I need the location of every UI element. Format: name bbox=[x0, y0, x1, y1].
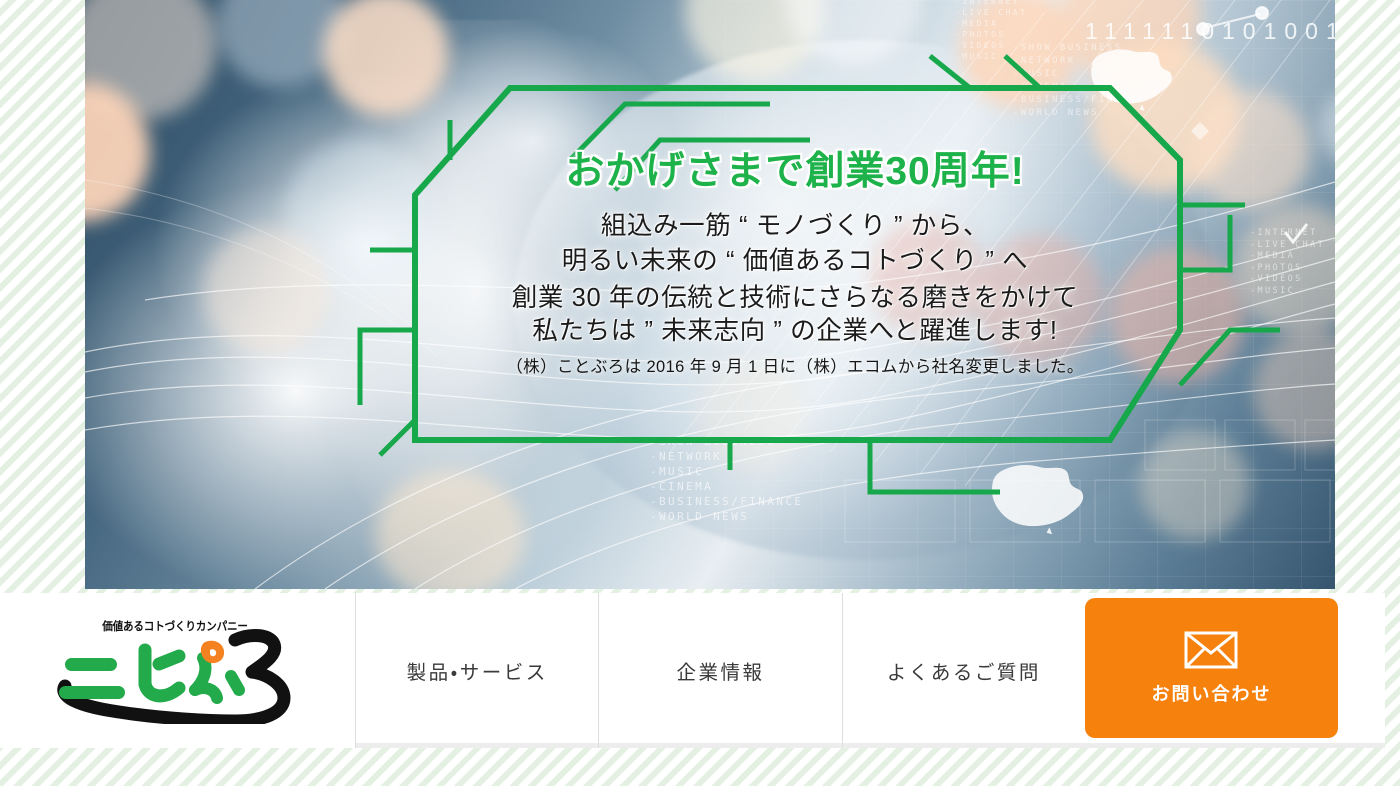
contact-cell: お問い合わせ bbox=[1085, 593, 1385, 748]
nav-item-company[interactable]: 企業情報 bbox=[598, 593, 841, 748]
contact-button-label: お問い合わせ bbox=[1151, 680, 1271, 706]
nav-item-company-label: 企業情報 bbox=[676, 656, 764, 685]
hero-headline: おかげさまで創業30周年! bbox=[170, 140, 1335, 196]
site-logo[interactable]: 価値あるコトづくりカンパニー bbox=[0, 593, 355, 748]
contact-button[interactable]: お問い合わせ bbox=[1085, 598, 1338, 738]
logo-wordmark-icon bbox=[53, 628, 303, 724]
envelope-icon bbox=[1184, 631, 1238, 669]
nav-item-products[interactable]: 製品・サービス bbox=[355, 593, 598, 748]
page-background: 11111101010010101011 -SHOW BUSINESS -NET… bbox=[0, 0, 1400, 786]
hero-line-3: 創業 30 年の伝統と技術にさらなる磨きをかけて bbox=[170, 277, 1335, 314]
hero-note: （株）ことぶろは 2016 年 9 月 1 日に（株）エコムから社名変更しました… bbox=[170, 353, 1335, 377]
hero-banner[interactable]: 11111101010010101011 -SHOW BUSINESS -NET… bbox=[85, 0, 1335, 589]
nav-item-products-label: 製品・サービス bbox=[407, 656, 548, 685]
hero-line-1: 組込み一筋 “ モノづくり ” から、 bbox=[170, 205, 1335, 242]
hero-line-4: 私たちは ” 未来志向 ” の企業へと躍進します! bbox=[170, 310, 1335, 347]
nav-item-faq[interactable]: よくあるご質問 bbox=[842, 593, 1085, 748]
navigation-bar: 価値あるコトづくりカンパニー bbox=[0, 593, 1385, 748]
hero-line-2: 明るい未来の “ 価値あるコトづくり ” へ bbox=[170, 240, 1335, 277]
nav-item-faq-label: よくあるご質問 bbox=[887, 656, 1041, 685]
main-nav: 価値あるコトづくりカンパニー bbox=[0, 593, 1385, 748]
hero-copy: おかげさまで創業30周年! 組込み一筋 “ モノづくり ” から、 明るい未来の… bbox=[170, 0, 1335, 589]
